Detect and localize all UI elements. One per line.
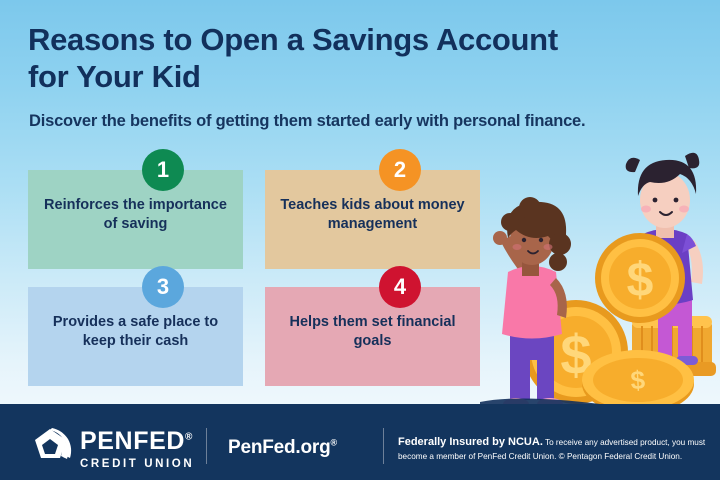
footer-bar: PENFED® CREDIT UNION PenFed.org® Federal… [0, 404, 720, 480]
page-subtitle: Discover the benefits of getting them st… [29, 112, 699, 131]
footer-divider-2 [383, 428, 384, 464]
dollar-coin-flat-icon: $ [582, 350, 694, 408]
ncua-notice: Federally Insured by NCUA. [398, 436, 543, 448]
benefit-badge-3: 3 [142, 266, 184, 308]
benefit-card-4-text: Helps them set financial goals [279, 313, 466, 352]
svg-text:$: $ [630, 365, 647, 396]
benefit-card-3[interactable]: Provides a safe place to keep their cash [28, 287, 243, 386]
infographic-poster: Reasons to Open a Savings Account for Yo… [0, 0, 720, 480]
footer-disclaimer: Federally Insured by NCUA. To receive an… [398, 434, 706, 463]
benefit-badge-2: 2 [379, 149, 421, 191]
penfed-site-url[interactable]: PenFed.org® [228, 437, 337, 459]
penfed-pentagon-logo-icon [33, 427, 75, 467]
benefit-card-4[interactable]: Helps them set financial goals [265, 287, 480, 386]
benefit-card-3-text: Provides a safe place to keep their cash [42, 313, 229, 352]
benefit-card-2[interactable]: Teaches kids about money management [265, 170, 480, 269]
benefit-badge-1: 1 [142, 149, 184, 191]
page-title: Reasons to Open a Savings Account for Yo… [28, 22, 588, 95]
kids-with-coins-illustration: $ $ $ [480, 130, 720, 408]
footer-divider-1 [206, 428, 207, 464]
benefit-card-2-text: Teaches kids about money management [279, 196, 466, 235]
dollar-coin-large-icon: $ [595, 233, 685, 323]
benefits-card-grid: Reinforces the importance of saving 1 Te… [28, 170, 480, 386]
benefit-card-1[interactable]: Reinforces the importance of saving [28, 170, 243, 269]
svg-text:$: $ [627, 254, 654, 307]
penfed-logo-text: PENFED® [80, 429, 194, 454]
penfed-wordmark: PENFED® CREDIT UNION [80, 429, 194, 471]
penfed-logo-tagline: CREDIT UNION [80, 459, 194, 471]
benefit-card-1-text: Reinforces the importance of saving [42, 196, 229, 235]
benefit-badge-4: 4 [379, 266, 421, 308]
